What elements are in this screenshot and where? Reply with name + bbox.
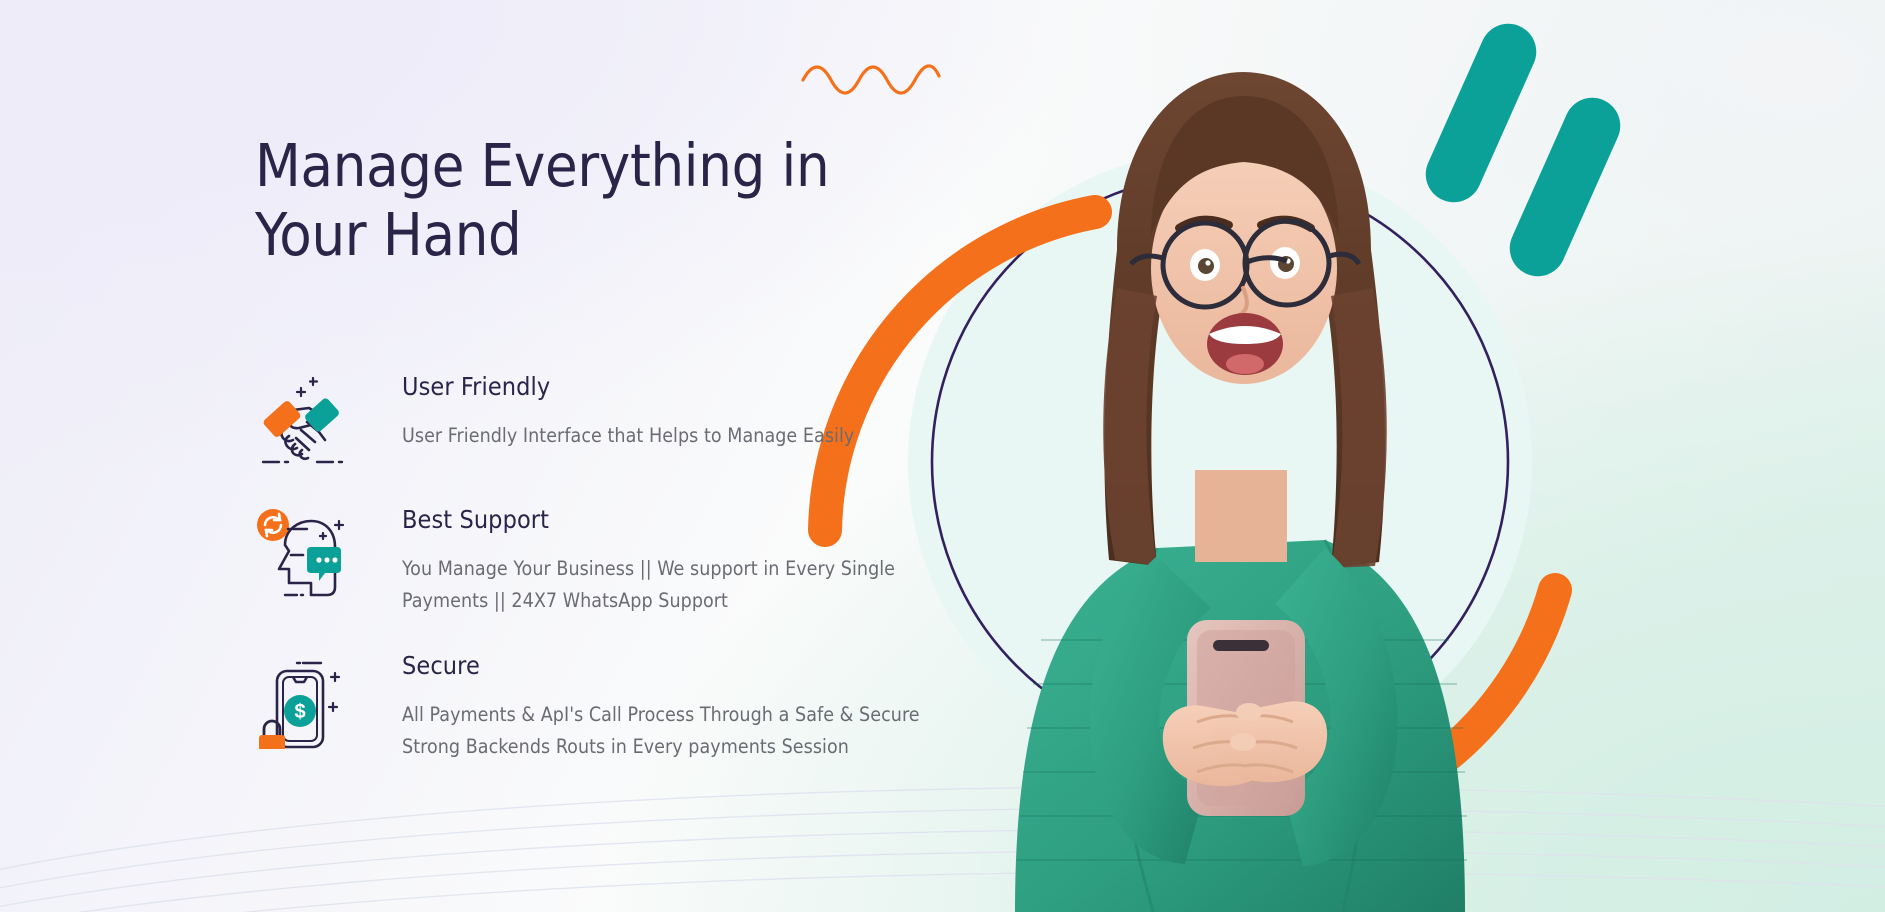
hero-content: Manage Everything in Your Hand <box>0 0 1000 912</box>
feature-description: All Payments & ApI's Call Process Throug… <box>402 699 955 762</box>
feature-title: Best Support <box>402 505 955 534</box>
page-title: Manage Everything in Your Hand <box>255 131 895 269</box>
feature-list: User Friendly User Friendly Interface th… <box>255 370 955 795</box>
handshake-icon <box>255 370 347 470</box>
feature-item-best-support: Best Support You Manage Your Business ||… <box>255 503 955 616</box>
teal-bars-decoration <box>1417 15 1629 285</box>
feature-item-user-friendly: User Friendly User Friendly Interface th… <box>255 370 955 470</box>
hands <box>1163 701 1327 786</box>
secure-phone-lock-icon: $ <box>255 649 347 749</box>
feature-title: User Friendly <box>402 372 955 401</box>
svg-text:$: $ <box>294 701 305 723</box>
padlock <box>259 721 285 749</box>
hero-banner: Manage Everything in Your Hand <box>0 0 1885 912</box>
feature-item-secure: $ Secure <box>255 649 955 762</box>
support-head-chat-icon <box>255 503 347 603</box>
refresh-badge <box>257 509 289 541</box>
feature-description: User Friendly Interface that Helps to Ma… <box>402 420 955 452</box>
feature-title: Secure <box>402 651 955 680</box>
feature-description: You Manage Your Business || We support i… <box>402 553 955 616</box>
